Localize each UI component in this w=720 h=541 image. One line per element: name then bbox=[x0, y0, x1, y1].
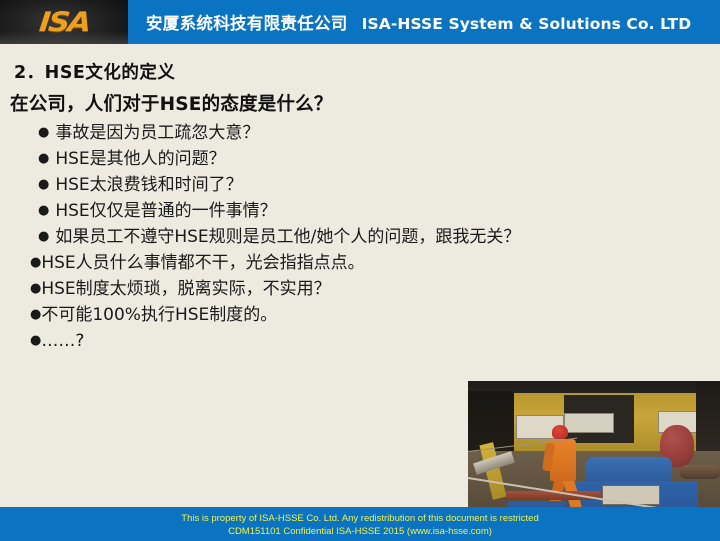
list-item-label: 事故是因为员工疏忽大意？ bbox=[55, 123, 259, 143]
list-item: ●HSE太浪费钱和时间了？ bbox=[0, 172, 720, 198]
bullet-marker-icon: ● bbox=[30, 333, 41, 348]
list-item-label: 如果员工不遵守HSE规则是员工他/她个人的问题，跟我无关？ bbox=[55, 227, 520, 247]
photo-pipe bbox=[680, 465, 720, 479]
list-item-label: HSE人员什么事情都不干，光会指指点点。 bbox=[41, 253, 364, 273]
company-name-cn: 安厦系统科技有限责任公司 bbox=[146, 10, 348, 34]
list-item: ●如果员工不遵守HSE规则是员工他/她个人的问题，跟我无关？ bbox=[0, 224, 698, 250]
slide-footer: This is property of ISA-HSSE Co. Ltd. An… bbox=[0, 507, 720, 541]
section-question: 在公司，人们对于HSE的态度是什么？ bbox=[10, 90, 333, 116]
bullet-marker-icon: ● bbox=[38, 203, 49, 218]
bullet-marker-icon: ● bbox=[30, 307, 41, 322]
slide-root: ISA 安厦系统科技有限责任公司 ISA-HSSE System & Solut… bbox=[0, 0, 720, 541]
list-item-label: HSE太浪费钱和时间了？ bbox=[55, 175, 242, 195]
slide-body: 2．HSE文化的定义 在公司，人们对于HSE的态度是什么？ ●事故是因为员工疏忽… bbox=[0, 44, 720, 507]
list-item-label: HSE制度太烦琐，脱离实际，不实用？ bbox=[41, 279, 330, 299]
bullet-marker-icon: ● bbox=[38, 125, 49, 140]
list-item: ●不可能100%执行HSE制度的。 bbox=[0, 302, 720, 328]
list-item: ●事故是因为员工疏忽大意？ bbox=[0, 120, 720, 146]
header-titles: 安厦系统科技有限责任公司 ISA-HSSE System & Solutions… bbox=[128, 10, 691, 34]
bullet-list: ●事故是因为员工疏忽大意？ ●HSE是其他人的问题？ ●HSE太浪费钱和时间了？… bbox=[0, 120, 720, 354]
bullet-marker-icon: ● bbox=[30, 281, 41, 296]
list-item: ●HSE制度太烦琐，脱离实际，不实用？ bbox=[0, 276, 720, 302]
list-item: ●……? bbox=[0, 328, 720, 354]
list-item: ●HSE是其他人的问题？ bbox=[0, 146, 720, 172]
list-item: ●HSE人员什么事情都不干，光会指指点点。 bbox=[0, 250, 720, 276]
bullet-marker-icon: ● bbox=[30, 255, 41, 270]
list-item-label: HSE是其他人的问题？ bbox=[55, 149, 225, 169]
logo-panel: ISA bbox=[0, 0, 128, 44]
isa-logo-icon: ISA bbox=[38, 7, 91, 38]
bullet-marker-icon: ● bbox=[38, 177, 49, 192]
photo-worker-helmet bbox=[552, 425, 568, 439]
list-item-label: HSE仅仅是普通的一件事情？ bbox=[55, 201, 276, 221]
company-name-en: ISA-HSSE System & Solutions Co. LTD bbox=[362, 15, 692, 33]
footer-line-1: This is property of ISA-HSSE Co. Ltd. An… bbox=[0, 512, 720, 525]
list-item: ●HSE仅仅是普通的一件事情？ bbox=[0, 198, 720, 224]
footer-line-2: CDM151101 Confidential ISA-HSSE 2015 (ww… bbox=[0, 525, 720, 538]
list-item-label: ……? bbox=[41, 331, 84, 351]
section-heading: 2．HSE文化的定义 bbox=[14, 59, 175, 84]
photo-equipment-box bbox=[564, 413, 614, 433]
slide-header: ISA 安厦系统科技有限责任公司 ISA-HSSE System & Solut… bbox=[0, 0, 720, 44]
bullet-marker-icon: ● bbox=[38, 151, 49, 166]
bullet-marker-icon: ● bbox=[38, 229, 49, 244]
list-item-label: 不可能100%执行HSE制度的。 bbox=[41, 305, 277, 325]
